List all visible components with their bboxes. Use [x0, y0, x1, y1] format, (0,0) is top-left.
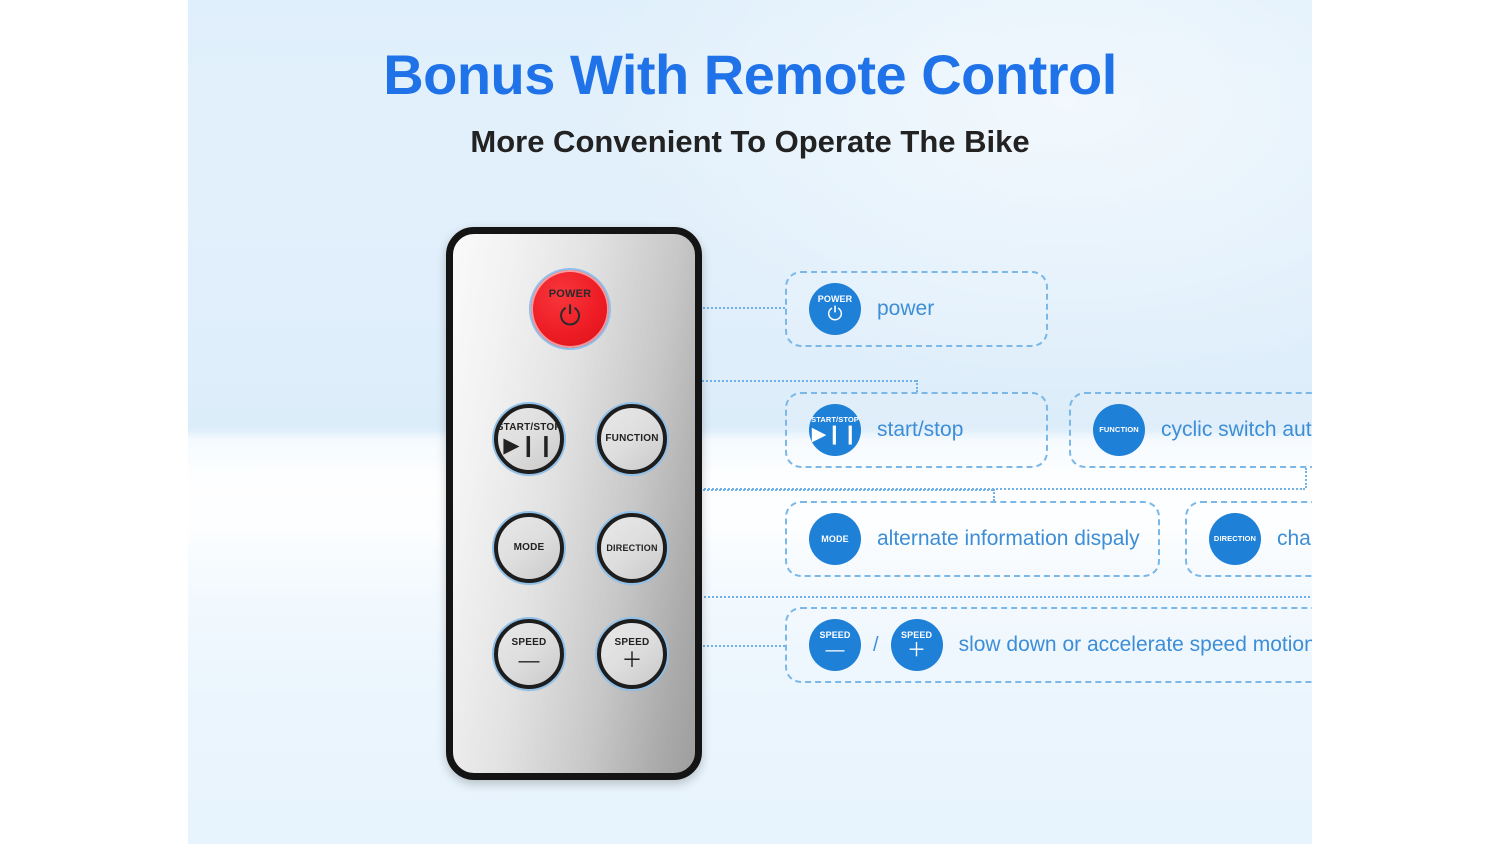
callout-mode: MODE alternate information dispaly: [785, 501, 1160, 577]
callout-speed: SPEED — / SPEED ＋ slow down or accelerat…: [785, 607, 1312, 683]
remote-mode-label: MODE: [514, 543, 545, 553]
callout-start-stop-description: start/stop: [877, 418, 963, 442]
power-symbol-icon: ⏻: [559, 303, 580, 330]
speed-separator: /: [873, 634, 879, 657]
remote-control-device: POWER ⏻ START/STOP ▶❙❙ FUNCTION MODE DIR…: [446, 227, 702, 780]
plus-icon: ＋: [907, 641, 926, 660]
power-icon-badge: POWER ⏻: [809, 283, 861, 335]
callout-start-stop: START/STOP ▶❙❙ start/stop: [785, 392, 1048, 468]
badge-label: POWER: [818, 295, 853, 304]
callout-speed-description: slow down or accelerate speed motion spe…: [959, 633, 1312, 657]
remote-button-start-stop[interactable]: START/STOP ▶❙❙: [494, 404, 564, 474]
badge-label: SPEED: [819, 631, 850, 640]
minus-icon: —: [519, 650, 540, 671]
remote-start-stop-label: START/STOP: [497, 423, 561, 433]
plus-icon: ＋: [622, 650, 643, 671]
connector-mode-drop: [993, 489, 995, 501]
page-subtitle: More Convenient To Operate The Bike: [188, 124, 1312, 160]
remote-button-mode[interactable]: MODE: [494, 513, 564, 583]
badge-label: MODE: [821, 535, 848, 544]
connector-startstop-drop: [916, 380, 918, 392]
callout-power-description: power: [877, 297, 934, 321]
callout-direction-description: change direction: [1277, 527, 1312, 551]
callout-function-description: cyclic switch automatic mode: [1161, 418, 1312, 442]
badge-label: DIRECTION: [1214, 535, 1256, 543]
remote-button-speed-plus[interactable]: SPEED ＋: [597, 619, 667, 689]
power-symbol-icon: ⏻: [827, 305, 842, 324]
connector-direction: [625, 596, 1312, 598]
speed-plus-icon-badge: SPEED ＋: [891, 619, 943, 671]
callout-direction: DIRECTION change direction: [1185, 501, 1312, 577]
callout-mode-description: alternate information dispaly: [877, 527, 1140, 551]
badge-label: SPEED: [901, 631, 932, 640]
remote-button-power[interactable]: POWER ⏻: [529, 268, 611, 350]
remote-button-speed-minus[interactable]: SPEED —: [494, 619, 564, 689]
mode-icon-badge: MODE: [809, 513, 861, 565]
remote-button-function[interactable]: FUNCTION: [597, 404, 667, 474]
play-pause-icon: ▶❙❙: [812, 425, 858, 444]
remote-speed-plus-label: SPEED: [615, 638, 650, 648]
connector-function-rise: [1305, 468, 1307, 488]
content-panel: Bonus With Remote Control More Convenien…: [188, 0, 1312, 844]
badge-label: FUNCTION: [1099, 426, 1139, 434]
remote-power-label: POWER: [549, 289, 592, 300]
minus-icon: —: [826, 641, 845, 660]
start-stop-icon-badge: START/STOP ▶❙❙: [809, 404, 861, 456]
play-pause-icon: ▶❙❙: [503, 435, 554, 456]
callout-power: POWER ⏻ power: [785, 271, 1048, 347]
callout-function: FUNCTION cyclic switch automatic mode: [1069, 392, 1312, 468]
direction-icon-badge: DIRECTION: [1209, 513, 1261, 565]
remote-button-direction[interactable]: DIRECTION: [597, 513, 667, 583]
speed-minus-icon-badge: SPEED —: [809, 619, 861, 671]
function-icon-badge: FUNCTION: [1093, 404, 1145, 456]
remote-direction-label: DIRECTION: [606, 544, 657, 553]
remote-function-label: FUNCTION: [605, 434, 658, 444]
badge-label: START/STOP: [811, 416, 859, 424]
remote-speed-minus-label: SPEED: [512, 638, 547, 648]
page-title: Bonus With Remote Control: [188, 42, 1312, 107]
slide-canvas: Bonus With Remote Control More Convenien…: [0, 0, 1500, 844]
